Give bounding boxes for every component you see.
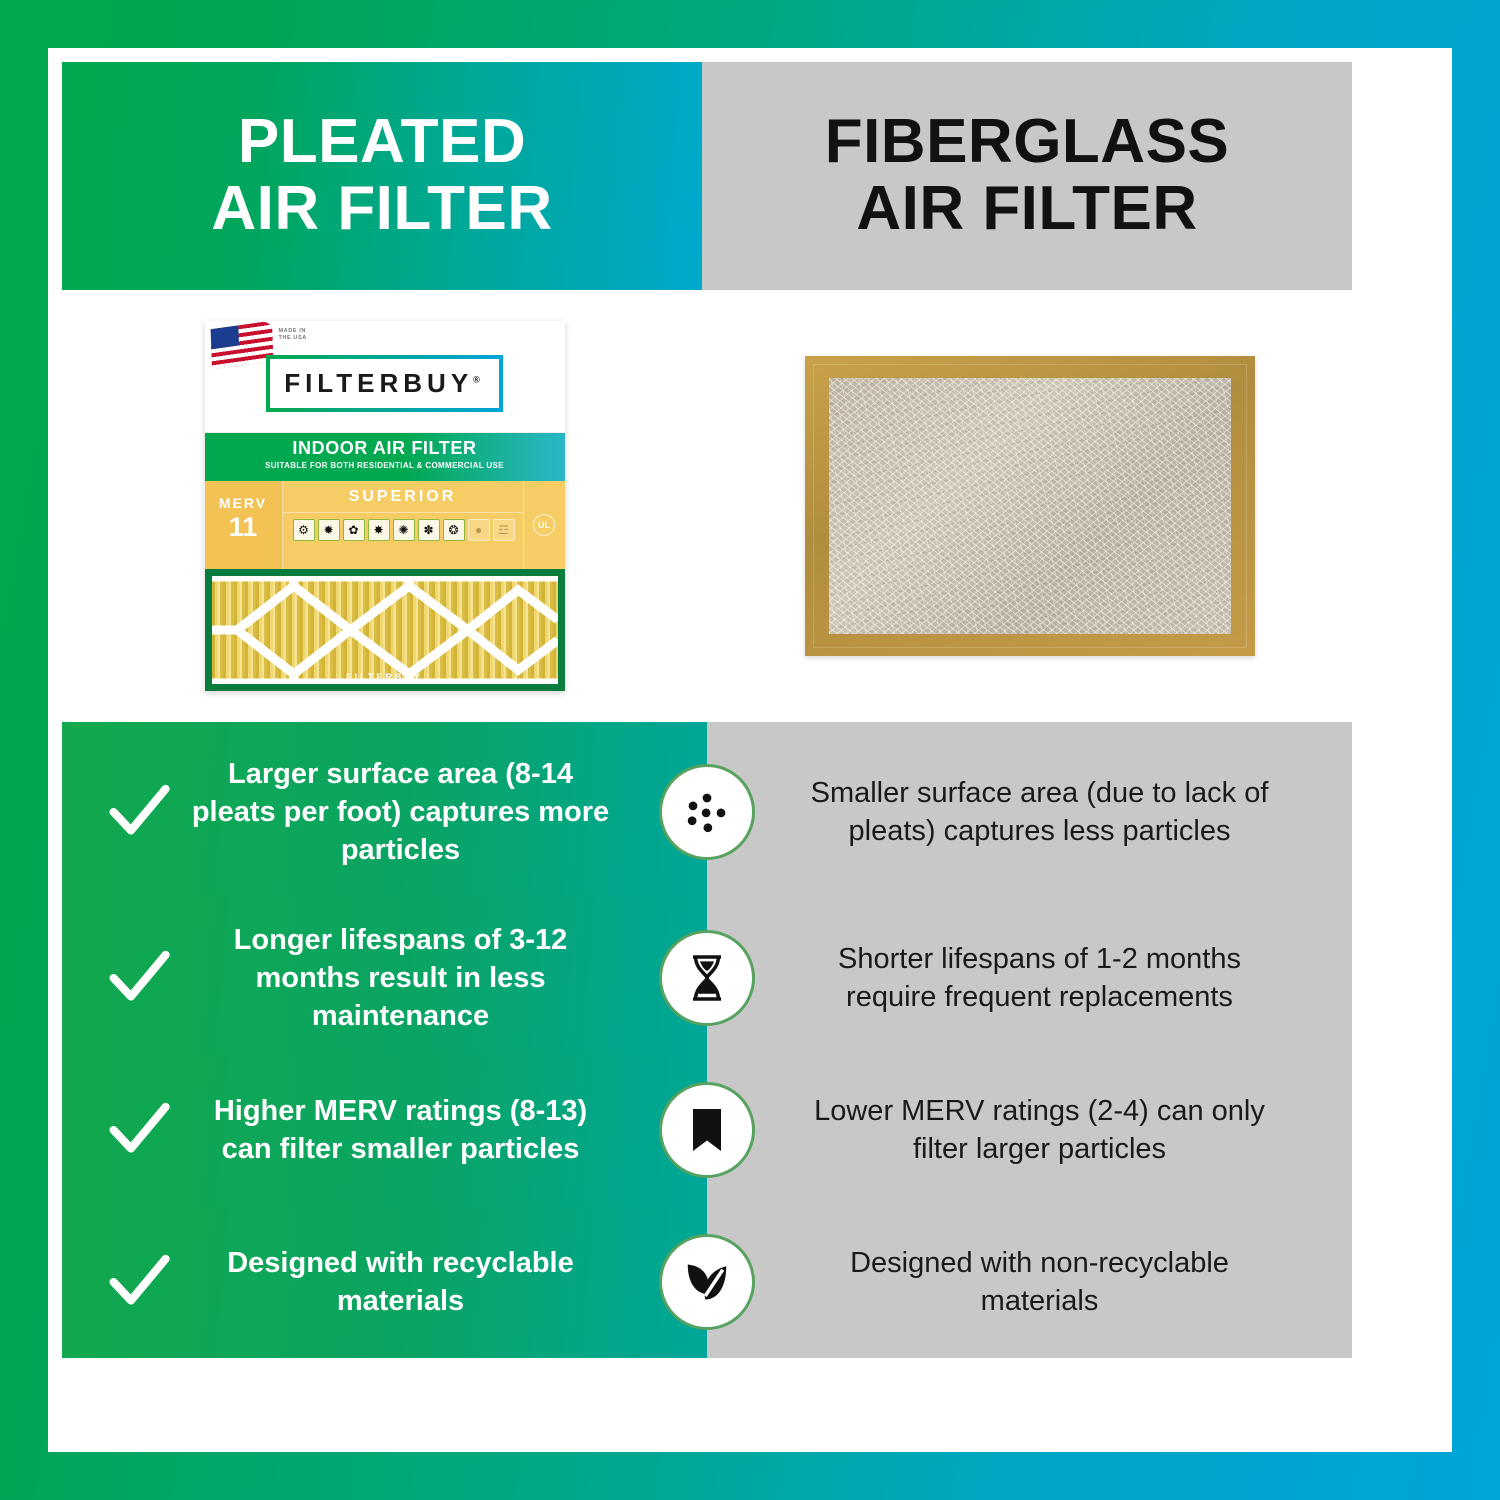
header-left-title: PLEATED AIR FILTER xyxy=(211,109,552,243)
filterbuy-box-image: MADE INTHE USA FILTERBUY® INDOOR AIR FIL… xyxy=(205,321,565,691)
comparison-row: Larger surface area (8-14 pleats per foo… xyxy=(62,722,1352,902)
row-left-text: Higher MERV ratings (8-13) can filter sm… xyxy=(186,1092,615,1169)
row-right-fiberglass: Smaller surface area (due to lack of ple… xyxy=(707,722,1352,902)
box-green-banner: INDOOR AIR FILTER SUITABLE FOR BOTH RESI… xyxy=(205,433,565,481)
header-band: PLEATED AIR FILTER FIBERGLASS AIR FILTER xyxy=(62,62,1352,290)
pleated-media-window: FILTERBUY xyxy=(205,569,565,691)
pleated-product-cell: MADE INTHE USA FILTERBUY® INDOOR AIR FIL… xyxy=(62,290,707,722)
box-top-panel: MADE INTHE USA FILTERBUY® xyxy=(205,321,565,433)
check-mark-icon xyxy=(102,1093,176,1167)
fiberglass-product-cell xyxy=(707,290,1352,722)
row-left-pleated: Higher MERV ratings (8-13) can filter sm… xyxy=(62,1054,707,1206)
header-left-line1: PLEATED xyxy=(211,109,552,176)
frame-brand-label: FILTERBUY xyxy=(212,672,558,682)
row-right-fiberglass: Shorter lifespans of 1-2 months require … xyxy=(707,902,1352,1054)
made-in-usa-label: MADE INTHE USA xyxy=(279,328,307,343)
hourglass-icon xyxy=(659,930,755,1026)
usa-flag-icon xyxy=(210,321,273,369)
product-band: MADE INTHE USA FILTERBUY® INDOOR AIR FIL… xyxy=(62,290,1352,722)
row-left-text: Designed with recyclable materials xyxy=(186,1244,615,1321)
row-right-text: Lower MERV ratings (2-4) can only filter… xyxy=(799,1092,1280,1169)
comparison-row: Higher MERV ratings (8-13) can filter sm… xyxy=(62,1054,1352,1206)
infographic-content: PLEATED AIR FILTER FIBERGLASS AIR FILTER… xyxy=(62,62,1352,1392)
filterbuy-wordmark: FILTERBUY xyxy=(284,368,473,398)
comparison-rows: Larger surface area (8-14 pleats per foo… xyxy=(62,722,1352,1358)
particles-icon xyxy=(659,764,755,860)
header-left-pleated: PLEATED AIR FILTER xyxy=(62,62,702,290)
banner-subtitle: SUITABLE FOR BOTH RESIDENTIAL & COMMERCI… xyxy=(205,461,565,470)
row-right-text: Shorter lifespans of 1-2 months require … xyxy=(799,940,1280,1017)
registered-mark-icon: ® xyxy=(473,374,485,384)
odor-icon: ☲ xyxy=(493,519,515,541)
comparison-row: Longer lifespans of 3-12 months result i… xyxy=(62,902,1352,1054)
row-left-pleated: Designed with recyclable materials xyxy=(62,1206,707,1358)
header-right-line2: AIR FILTER xyxy=(825,176,1230,243)
check-mark-icon xyxy=(102,775,176,849)
row-left-text: Longer lifespans of 3-12 months result i… xyxy=(186,921,615,1036)
row-right-text: Smaller surface area (due to lack of ple… xyxy=(799,774,1280,851)
header-left-line2: AIR FILTER xyxy=(211,176,552,243)
pollen-icon: ✿ xyxy=(343,519,365,541)
yellow-pleats: FILTERBUY xyxy=(212,576,558,684)
merv-value: 11 xyxy=(205,514,282,541)
bacteria-icon: ✺ xyxy=(393,519,415,541)
tier-label: SUPERIOR xyxy=(283,481,523,513)
row-right-fiberglass: Lower MERV ratings (2-4) can only filter… xyxy=(707,1054,1352,1206)
header-right-title: FIBERGLASS AIR FILTER xyxy=(825,109,1230,243)
header-right-fiberglass: FIBERGLASS AIR FILTER xyxy=(702,62,1352,290)
ul-label: UL xyxy=(533,514,555,536)
row-left-text: Larger surface area (8-14 pleats per foo… xyxy=(186,755,615,870)
comparison-row: Designed with recyclable materials Desig… xyxy=(62,1206,1352,1358)
pet-dander-icon: ✽ xyxy=(418,519,440,541)
box-tier-section: SUPERIOR ⚙ ✹ ✿ ✸ ✺ ✽ ❂ ● ☲ xyxy=(283,481,523,569)
fiberglass-media xyxy=(829,378,1231,634)
fiberglass-filter-image xyxy=(805,356,1255,656)
leaves-icon xyxy=(659,1234,755,1330)
dust-mite-icon: ✹ xyxy=(318,519,340,541)
box-yellow-panel: MERV 11 SUPERIOR ⚙ ✹ ✿ ✸ ✺ ✽ xyxy=(205,481,565,569)
bookmark-icon xyxy=(659,1082,755,1178)
row-right-fiberglass: Designed with non-recyclable materials xyxy=(707,1206,1352,1358)
poster-background: PLEATED AIR FILTER FIBERGLASS AIR FILTER… xyxy=(0,0,1500,1500)
merv-badge: MERV 11 xyxy=(205,481,283,569)
header-right-line1: FIBERGLASS xyxy=(825,109,1230,176)
smoke-icon: ❂ xyxy=(443,519,465,541)
check-mark-icon xyxy=(102,1245,176,1319)
diamond-support-mesh xyxy=(212,576,558,684)
filterbuy-logo: FILTERBUY® xyxy=(266,355,503,412)
row-left-pleated: Larger surface area (8-14 pleats per foo… xyxy=(62,722,707,902)
mold-spore-icon: ✸ xyxy=(368,519,390,541)
row-right-text: Designed with non-recyclable materials xyxy=(799,1244,1280,1321)
virus-icon: ● xyxy=(468,519,490,541)
capability-icon-row: ⚙ ✹ ✿ ✸ ✺ ✽ ❂ ● ☲ xyxy=(283,513,523,541)
banner-title: INDOOR AIR FILTER xyxy=(205,438,565,459)
check-mark-icon xyxy=(102,941,176,1015)
ul-certification-mark: UL xyxy=(523,481,565,569)
merv-label: MERV xyxy=(205,495,282,511)
row-left-pleated: Longer lifespans of 3-12 months result i… xyxy=(62,895,707,1062)
dust-icon: ⚙ xyxy=(293,519,315,541)
